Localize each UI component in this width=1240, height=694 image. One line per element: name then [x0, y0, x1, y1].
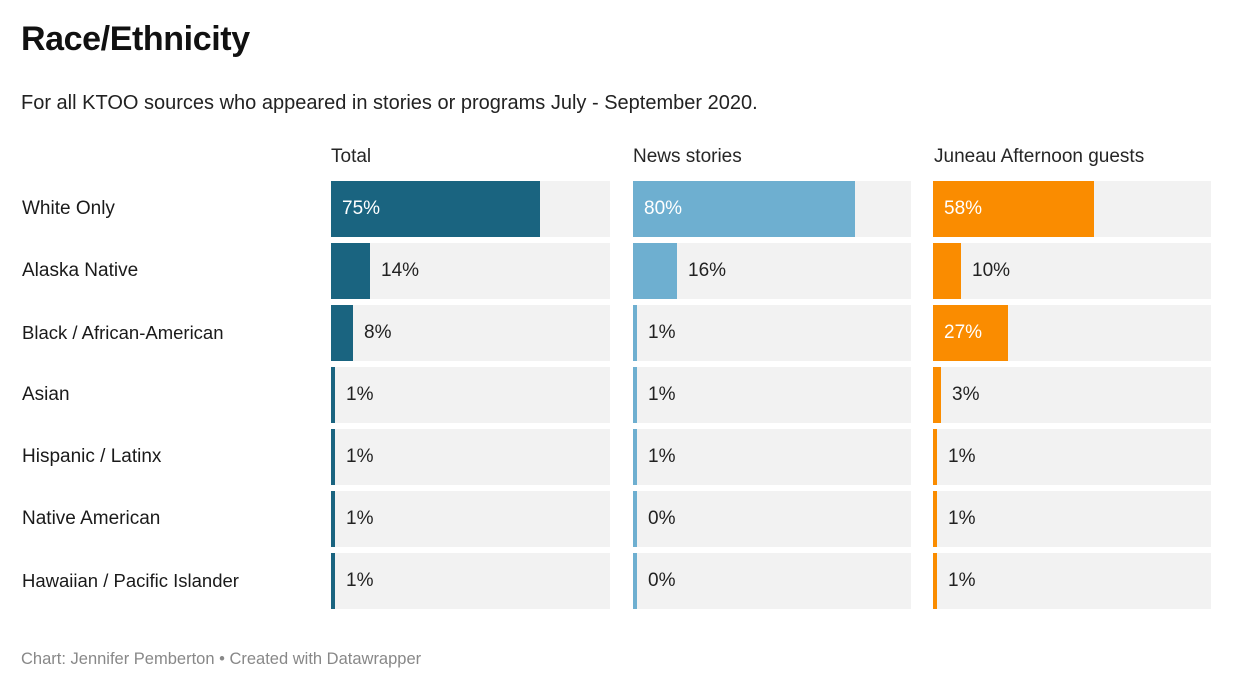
bar-track: 0% — [633, 491, 911, 547]
bar-value-label: 1% — [346, 553, 373, 609]
row-label: Asian — [0, 367, 310, 423]
bar-value-label: 1% — [948, 491, 975, 547]
bar — [933, 367, 941, 423]
column-header-juneau-afternoon-guests: Juneau Afternoon guests — [934, 144, 1144, 170]
row-label: Hawaiian / Pacific Islander — [0, 553, 310, 609]
bar — [633, 429, 637, 485]
row-label: Black / African-American — [0, 305, 310, 361]
bar-value-label: 10% — [972, 243, 1010, 299]
bar — [331, 553, 335, 609]
chart-row: Native American1%0%1% — [0, 491, 1240, 553]
column-header-total: Total — [331, 144, 371, 170]
chart-footer: Chart: Jennifer Pemberton • Created with… — [21, 648, 421, 670]
row-label: Hispanic / Latinx — [0, 429, 310, 485]
bar-track: 1% — [331, 553, 610, 609]
bar-grid: White Only75%80%58%Alaska Native14%16%10… — [0, 181, 1240, 615]
bar — [633, 305, 637, 361]
bar-value-label: 27% — [944, 305, 982, 361]
bar-track: 1% — [933, 491, 1211, 547]
bar-track: 16% — [633, 243, 911, 299]
bar — [331, 491, 335, 547]
bar — [633, 367, 637, 423]
bar — [933, 429, 937, 485]
chart-subtitle: For all KTOO sources who appeared in sto… — [21, 90, 758, 116]
bar-value-label: 1% — [648, 305, 675, 361]
bar-value-label: 80% — [644, 181, 682, 237]
column-headers: Total News stories Juneau Afternoon gues… — [0, 144, 1240, 172]
bar-track: 1% — [633, 305, 911, 361]
bar-value-label: 1% — [948, 553, 975, 609]
bar-value-label: 1% — [648, 429, 675, 485]
bar — [331, 367, 335, 423]
bar-value-label: 8% — [364, 305, 391, 361]
bar — [933, 243, 961, 299]
bar-track: 1% — [933, 429, 1211, 485]
bar-value-label: 1% — [948, 429, 975, 485]
bar-value-label: 58% — [944, 181, 982, 237]
bar-track: 0% — [633, 553, 911, 609]
bar-track: 1% — [331, 491, 610, 547]
bar-value-label: 1% — [346, 491, 373, 547]
bar — [331, 243, 370, 299]
bar-track: 10% — [933, 243, 1211, 299]
chart-row: Hispanic / Latinx1%1%1% — [0, 429, 1240, 491]
bar-value-label: 3% — [952, 367, 979, 423]
bar-value-label: 1% — [346, 367, 373, 423]
bar — [331, 305, 353, 361]
bar-track: 1% — [331, 429, 610, 485]
bar — [633, 243, 677, 299]
bar-track: 1% — [633, 367, 911, 423]
bar-value-label: 75% — [342, 181, 380, 237]
bar-track: 80% — [633, 181, 911, 237]
bar-track: 58% — [933, 181, 1211, 237]
chart-title: Race/Ethnicity — [21, 19, 250, 59]
column-header-news-stories: News stories — [633, 144, 742, 170]
chart-row: Black / African-American8%1%27% — [0, 305, 1240, 367]
bar-track: 1% — [633, 429, 911, 485]
chart-container: Race/Ethnicity For all KTOO sources who … — [0, 0, 1240, 694]
bar-track: 1% — [933, 553, 1211, 609]
bar-track: 1% — [331, 367, 610, 423]
bar — [633, 553, 637, 609]
bar-value-label: 14% — [381, 243, 419, 299]
bar — [331, 429, 335, 485]
bar-track: 3% — [933, 367, 1211, 423]
bar — [633, 491, 637, 547]
bar-value-label: 0% — [648, 491, 675, 547]
bar-value-label: 1% — [346, 429, 373, 485]
bar — [933, 553, 937, 609]
bar-track: 8% — [331, 305, 610, 361]
bar-track: 27% — [933, 305, 1211, 361]
chart-row: Hawaiian / Pacific Islander1%0%1% — [0, 553, 1240, 615]
chart-row: Asian1%1%3% — [0, 367, 1240, 429]
row-label: Alaska Native — [0, 243, 310, 299]
bar-track: 14% — [331, 243, 610, 299]
bar-value-label: 16% — [688, 243, 726, 299]
row-label: White Only — [0, 181, 310, 237]
bar-track: 75% — [331, 181, 610, 237]
bar — [933, 491, 937, 547]
chart-row: White Only75%80%58% — [0, 181, 1240, 243]
row-label: Native American — [0, 491, 310, 547]
chart-row: Alaska Native14%16%10% — [0, 243, 1240, 305]
bar-value-label: 0% — [648, 553, 675, 609]
bar-value-label: 1% — [648, 367, 675, 423]
